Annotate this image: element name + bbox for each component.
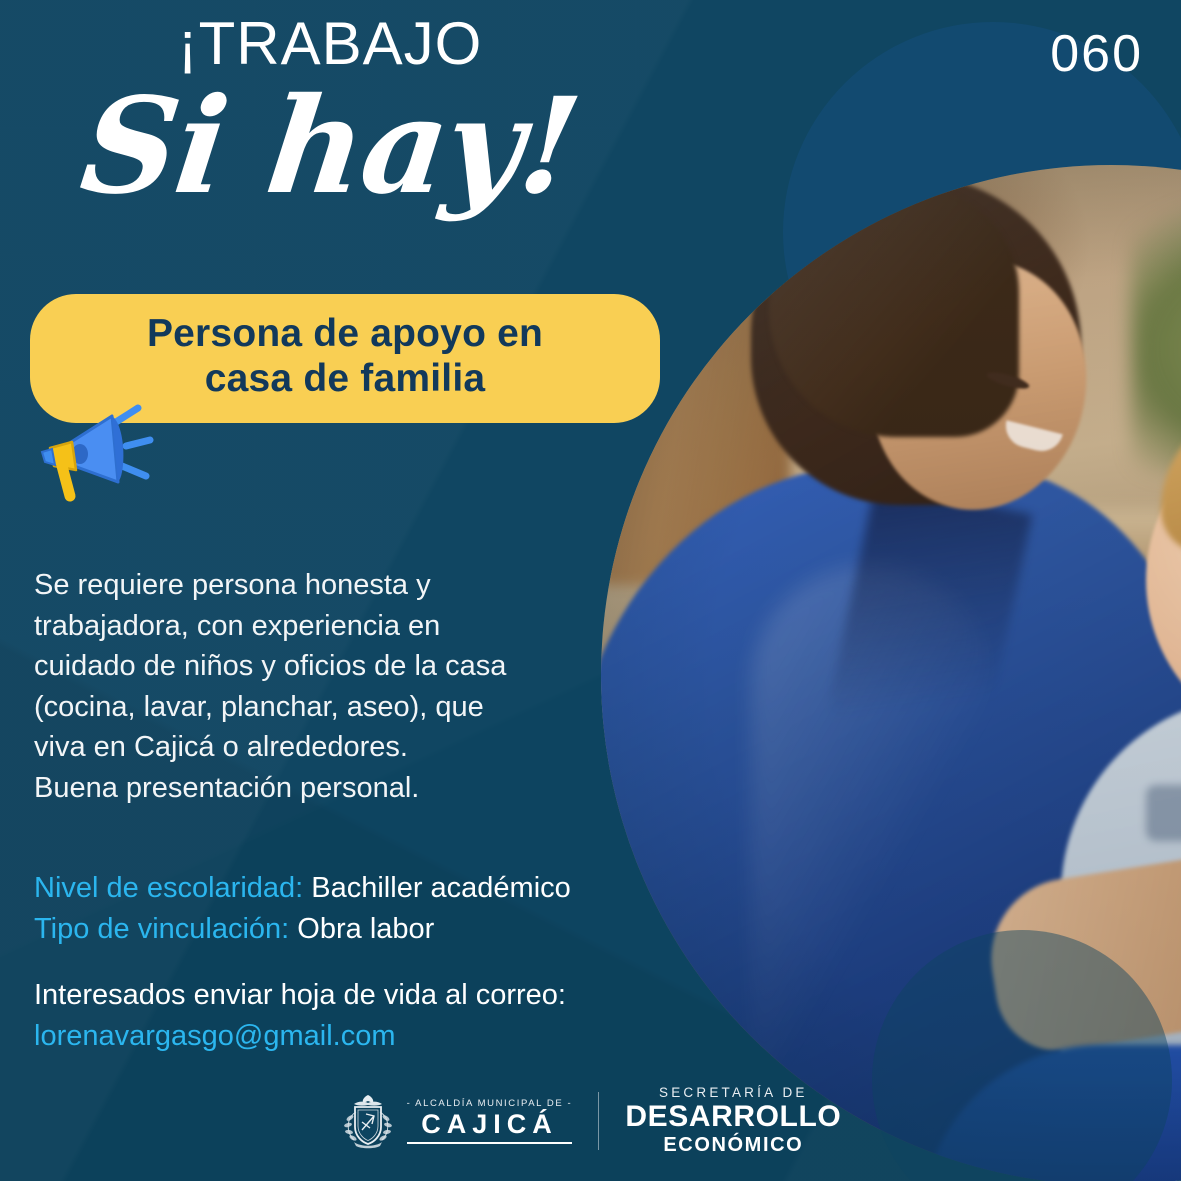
headline-kicker: ¡TRABAJO [0,14,660,74]
posting-number: 060 [1050,24,1143,84]
spec-value-escolaridad: Bachiller académico [303,872,571,904]
contact-email[interactable]: lorenavargasgo@gmail.com [34,1016,654,1057]
secretaria-line1: SECRETARÍA DE [625,1085,841,1100]
spec-label-vinculacion: Tipo de vinculación: [34,913,289,945]
secretaria-line3: ECONÓMICO [625,1134,841,1157]
cajica-name: CAJICÁ [407,1109,573,1144]
megaphone-icon [34,404,154,504]
cajica-wordmark: - ALCALDÍA MUNICIPAL DE - CAJICÁ [407,1098,573,1144]
cajica-top-line: - ALCALDÍA MUNICIPAL DE - [407,1098,573,1109]
secretaria-logo: SECRETARÍA DE DESARROLLO ECONÓMICO [625,1085,841,1157]
spec-row-escolaridad: Nivel de escolaridad: Bachiller académic… [34,868,654,909]
job-description: Se requiere persona honesta y trabajador… [34,565,574,809]
headline-script: Si hay! [0,80,668,215]
contact-prompt: Interesados enviar hoja de vida al corre… [34,975,654,1016]
spec-row-vinculacion: Tipo de vinculación: Obra labor [34,909,654,950]
footer-logos: - ALCALDÍA MUNICIPAL DE - CAJICÁ SECRETA… [0,1085,1181,1157]
job-posting-poster: ¡TRABAJO Si hay! 060 Persona de apoyo en… [0,0,1181,1181]
job-title-text: Persona de apoyo en casa de familia [50,311,640,401]
contact-block: Interesados enviar hoja de vida al corre… [34,975,654,1057]
job-specs: Nivel de escolaridad: Bachiller académic… [34,868,654,950]
cajica-logo: - ALCALDÍA MUNICIPAL DE - CAJICÁ [340,1092,573,1150]
cajica-coat-of-arms-icon [340,1092,396,1150]
spec-value-vinculacion: Obra labor [289,913,434,945]
headline-block: ¡TRABAJO Si hay! [0,14,660,215]
spec-label-escolaridad: Nivel de escolaridad: [34,872,303,904]
footer-divider [598,1092,599,1150]
secretaria-line2: DESARROLLO [625,1100,841,1134]
